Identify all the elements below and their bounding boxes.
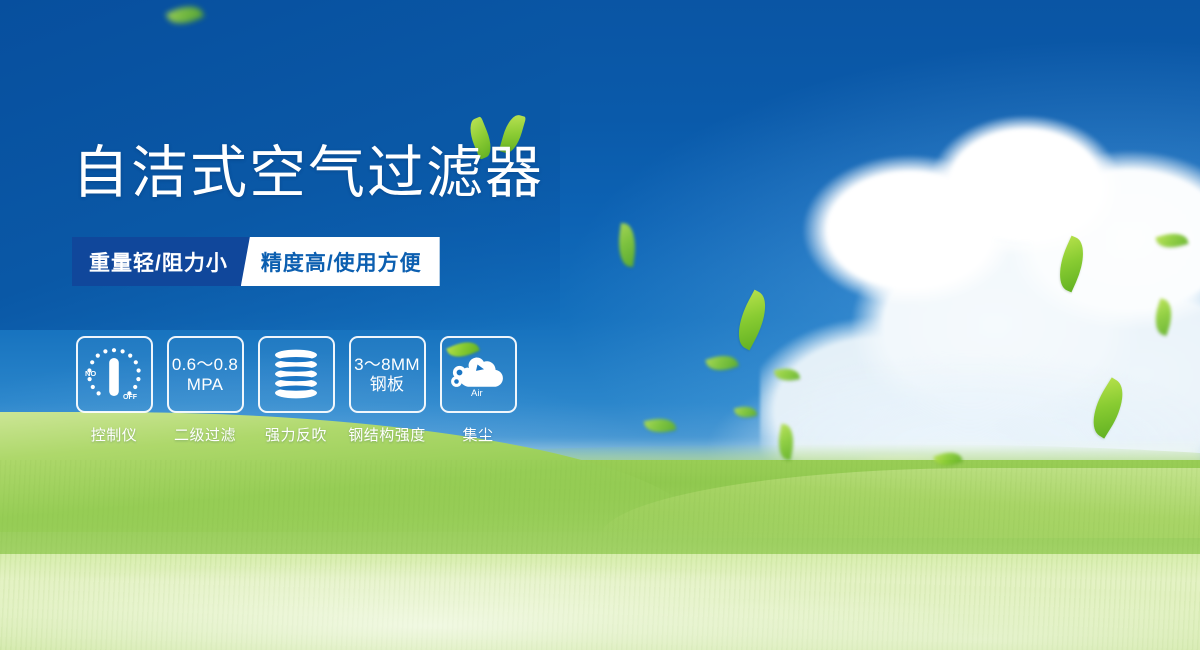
feature-icon-box: 3～8MM 钢板 (349, 336, 426, 413)
gauge-on-label: NO (85, 369, 96, 378)
feature-label: 钢结构强度 (348, 424, 426, 445)
coil-stack-icon (267, 346, 325, 404)
feature-icon-box: 0.6～0.8 MPA (167, 336, 244, 413)
tagline-left: 重量轻/阻力小 (72, 237, 250, 286)
feature-list: NO OFF 控制仪 0.6～0.8 MPA 二级过滤 (72, 336, 520, 445)
feature-icon-box: NO OFF (76, 336, 153, 413)
tagline-badge: 重量轻/阻力小 精度高/使用方便 (72, 237, 440, 286)
product-hero-banner: 自洁式空气过滤器 重量轻/阻力小 精度高/使用方便 (0, 0, 1200, 650)
feature-item-dust[interactable]: Air 集尘 (436, 336, 520, 445)
feature-item-control[interactable]: NO OFF 控制仪 (72, 336, 156, 445)
feature-label: 集尘 (462, 424, 493, 445)
feature-icon-text-line2: MPA (187, 375, 223, 394)
feature-label: 强力反吹 (265, 424, 327, 445)
feature-item-filtration[interactable]: 0.6～0.8 MPA 二级过滤 (163, 336, 247, 445)
feature-item-backblow[interactable]: 强力反吹 (254, 336, 338, 445)
feature-icon-box: Air (440, 336, 517, 413)
gauge-off-label: OFF (123, 394, 138, 401)
feature-icon-text-line1: 3～8MM (354, 355, 420, 374)
feature-icon-text-line2: 钢板 (370, 375, 405, 394)
feature-icon-text-line1: 0.6～0.8 (172, 355, 238, 374)
page-title: 自洁式空气过滤器 (72, 145, 544, 202)
air-cloud-caption: Air (471, 388, 483, 398)
feature-label: 控制仪 (91, 424, 138, 445)
feature-icon-box (258, 336, 335, 413)
tagline-right: 精度高/使用方便 (241, 237, 440, 286)
air-cloud-icon: Air (447, 354, 509, 398)
feature-item-steel[interactable]: 3～8MM 钢板 钢结构强度 (345, 336, 429, 445)
feature-label: 二级过滤 (174, 424, 236, 445)
gauge-icon: NO OFF (83, 346, 145, 404)
grass-path-highlight (0, 530, 1200, 650)
